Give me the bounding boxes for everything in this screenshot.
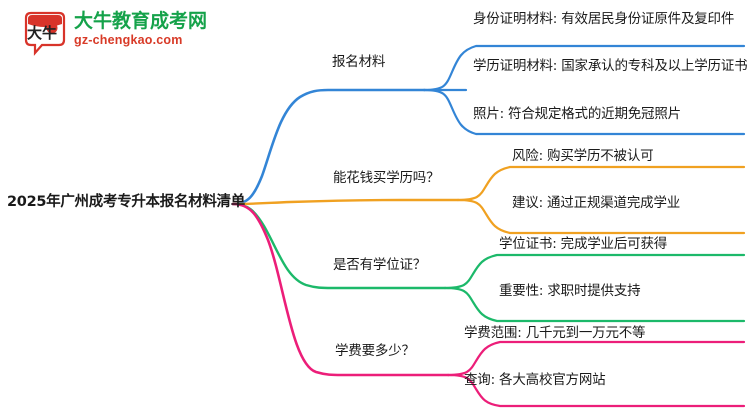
- leaf-label-education-proof[interactable]: 学历证明材料: 国家承认的专科及以上学历证书: [473, 60, 747, 74]
- leaf-label-importance[interactable]: 重要性: 求职时提供支持: [499, 285, 640, 299]
- branch-label-degree-certificate[interactable]: 是否有学位证？: [333, 259, 426, 273]
- leaf-label-inquiry[interactable]: 查询: 各大高校官方网站: [464, 374, 605, 388]
- leaf-label-photo[interactable]: 照片: 符合规定格式的近期免冠照片: [473, 108, 681, 122]
- leaf-label-tuition-range[interactable]: 学费范围: 几千元到一万元不等: [464, 327, 645, 341]
- branch-label-tuition[interactable]: 学费要多少？: [335, 345, 415, 359]
- leaf-label-advice[interactable]: 建议: 通过正规渠道完成学业: [512, 197, 680, 211]
- leaf-label-degree-award[interactable]: 学位证书: 完成学业后可获得: [499, 238, 667, 252]
- leaf-label-id-proof[interactable]: 身份证明材料: 有效居民身份证原件及复印件: [473, 13, 734, 27]
- mindmap-page: 大牛 大牛教育成考网 gz-chengkao.com: [0, 0, 750, 410]
- leaf-label-risk[interactable]: 风险: 购买学历不被认可: [512, 150, 653, 164]
- branch-path-degree-certificate: [233, 204, 744, 321]
- mindmap-root-label[interactable]: 2025年广州成考专升本报名材料清单: [7, 195, 245, 210]
- branch-label-reporting-materials[interactable]: 报名材料: [332, 56, 385, 70]
- branch-label-buy-diploma[interactable]: 能花钱买学历吗？: [333, 172, 439, 186]
